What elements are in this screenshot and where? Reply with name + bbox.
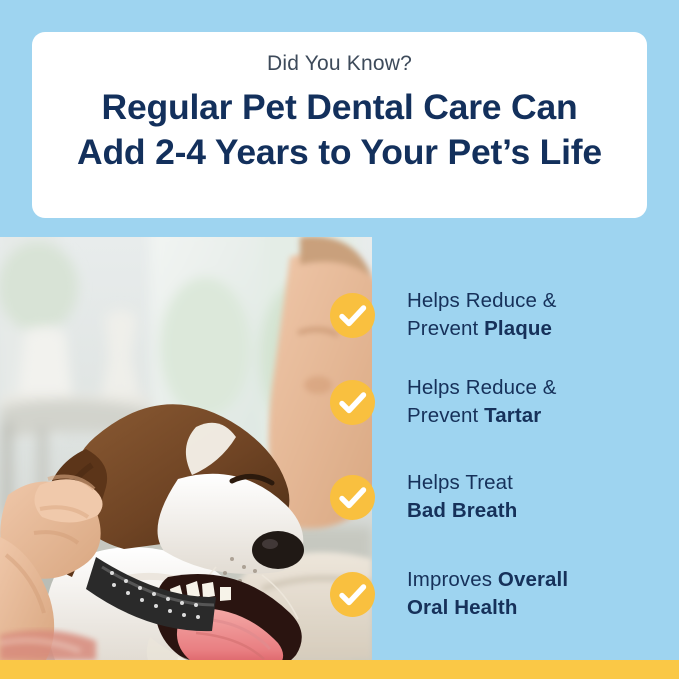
benefits-list: Helps Reduce & Prevent Plaque Helps Redu… bbox=[0, 237, 679, 660]
benefit-line-1: Helps Reduce & bbox=[407, 374, 557, 402]
benefit-keyword: Plaque bbox=[484, 317, 552, 340]
checkmark-icon bbox=[330, 293, 375, 338]
benefit-line-2-prefix: Prevent bbox=[407, 317, 484, 340]
headline-line-2: Add 2-4 Years to Your Pet’s Life bbox=[32, 130, 647, 175]
benefit-keyword: Tartar bbox=[484, 404, 541, 427]
benefit-text: Helps Reduce & Prevent Plaque bbox=[407, 287, 557, 343]
benefit-keyword: Bad Breath bbox=[407, 499, 517, 522]
eyebrow-text: Did You Know? bbox=[32, 49, 647, 79]
header-card: Did You Know? Regular Pet Dental Care Ca… bbox=[32, 32, 647, 218]
benefit-line-1: Helps Treat bbox=[407, 469, 517, 497]
benefit-line-1: Improves Overall bbox=[407, 566, 568, 594]
list-item: Helps Treat Bad Breath bbox=[330, 465, 679, 529]
bottom-accent-bar bbox=[0, 660, 679, 679]
benefit-text: Helps Reduce & Prevent Tartar bbox=[407, 374, 557, 430]
benefit-line-2-prefix: Prevent bbox=[407, 404, 484, 427]
checkmark-icon bbox=[330, 380, 375, 425]
benefit-line-1: Helps Reduce & bbox=[407, 287, 557, 315]
benefit-line-2: Prevent Tartar bbox=[407, 402, 557, 430]
list-item: Helps Reduce & Prevent Plaque bbox=[330, 283, 679, 347]
checkmark-icon bbox=[330, 475, 375, 520]
benefit-keyword: Oral Health bbox=[407, 596, 517, 619]
list-item: Improves Overall Oral Health bbox=[330, 562, 679, 626]
list-item: Helps Reduce & Prevent Tartar bbox=[330, 370, 679, 434]
headline-line-1: Regular Pet Dental Care Can bbox=[32, 85, 647, 130]
checkmark-icon bbox=[330, 572, 375, 617]
page-title: Regular Pet Dental Care Can Add 2-4 Year… bbox=[32, 85, 647, 175]
benefit-line-1-prefix: Improves bbox=[407, 568, 498, 591]
benefit-line-2: Oral Health bbox=[407, 594, 568, 622]
benefit-text: Helps Treat Bad Breath bbox=[407, 469, 517, 525]
benefit-keyword: Overall bbox=[498, 568, 568, 591]
benefit-line-2: Bad Breath bbox=[407, 497, 517, 525]
promo-poster: Did You Know? Regular Pet Dental Care Ca… bbox=[0, 0, 679, 679]
benefit-text: Improves Overall Oral Health bbox=[407, 566, 568, 622]
benefit-line-2: Prevent Plaque bbox=[407, 315, 557, 343]
